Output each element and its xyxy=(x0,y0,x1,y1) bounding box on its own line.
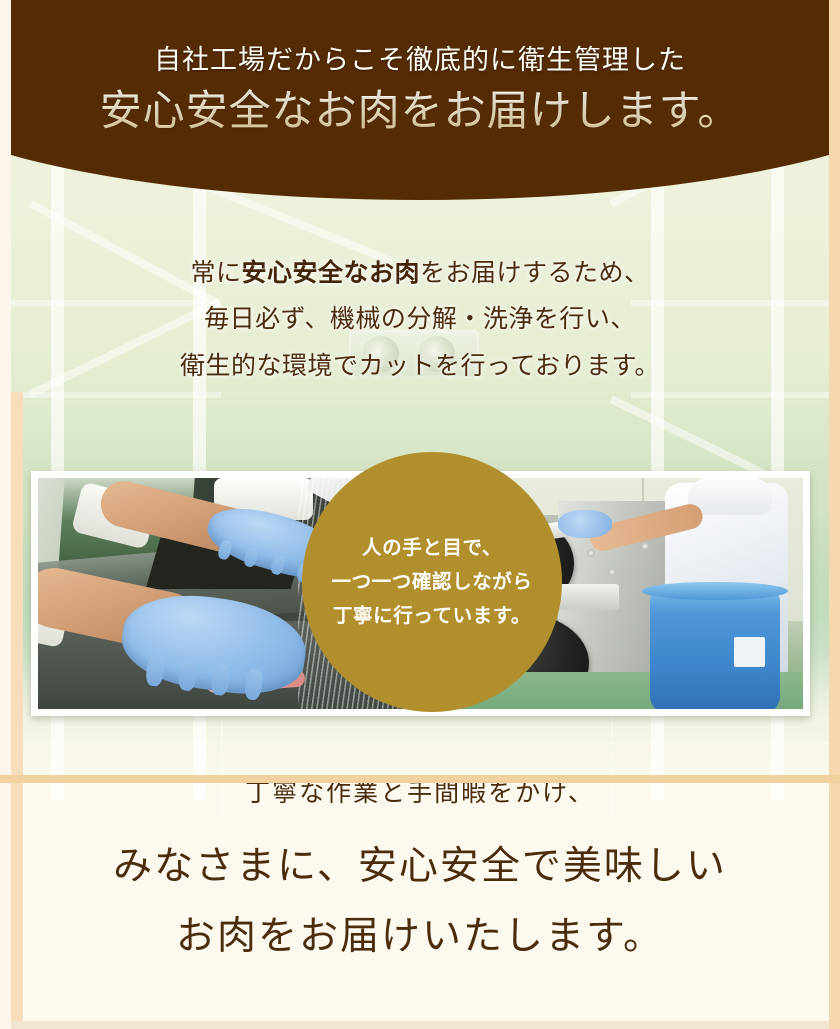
lead-line-1: 常に安心安全なお肉をお届けするため、 xyxy=(11,250,829,296)
badge-line-2: 一つ一つ確認しながら xyxy=(331,565,532,599)
header-line-1: 自社工場だからこそ徹底的に衛生管理した xyxy=(11,42,829,78)
badge-text-block: 人の手と目で、 一つ一つ確認しながら 丁寧に行っています。 xyxy=(331,531,532,633)
gold-circle-badge: 人の手と目で、 一つ一つ確認しながら 丁寧に行っています。 xyxy=(302,452,562,712)
lead-line-1-emphasis: 安心安全なお肉 xyxy=(241,259,420,287)
badge-line-1: 人の手と目で、 xyxy=(331,531,532,565)
page-edge-bottom xyxy=(0,775,840,783)
page-edge-right xyxy=(829,0,840,1029)
lead-line-2: 毎日必ず、機械の分解・洗浄を行い、 xyxy=(11,296,829,342)
lead-copy: 常に安心安全なお肉をお届けするため、 毎日必ず、機械の分解・洗浄を行い、 衛生的… xyxy=(11,250,829,389)
badge-line-3: 丁寧に行っています。 xyxy=(331,599,532,633)
lead-line-3: 衛生的な環境でカットを行っております。 xyxy=(11,343,829,389)
page-edge-left-band xyxy=(11,392,23,1021)
closing-line-3: お肉をお届けいたします。 xyxy=(11,905,829,969)
promo-page: 自社工場だからこそ徹底的に衛生管理した 安心安全なお肉をお届けします。 常に安心… xyxy=(0,0,840,1029)
closing-line-2: みなさまに、安心安全で美味しい xyxy=(11,835,829,899)
page-canvas: 自社工場だからこそ徹底的に衛生管理した 安心安全なお肉をお届けします。 常に安心… xyxy=(11,0,829,1021)
lead-line-1-pre: 常に xyxy=(190,259,241,287)
header-line-2: 安心安全なお肉をお届けします。 xyxy=(11,82,829,143)
page-edge-left xyxy=(0,0,11,1029)
closing-copy: 丁寧な作業と手間暇をかけ、 みなさまに、安心安全で美味しい お肉をお届けいたしま… xyxy=(11,775,829,969)
header-text-block: 自社工場だからこそ徹底的に衛生管理した 安心安全なお肉をお届けします。 xyxy=(11,0,829,143)
lead-line-1-post: をお届けするため、 xyxy=(420,259,650,287)
